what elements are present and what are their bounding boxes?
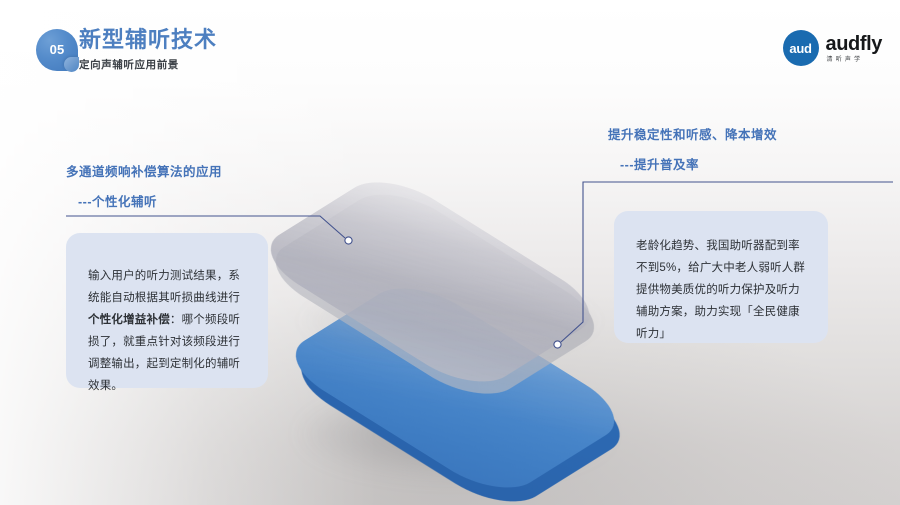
logo-circle-icon: aud <box>783 30 819 66</box>
left-callout-heading: 多通道频响补偿算法的应用 ---个性化辅听 <box>66 161 222 210</box>
page-title: 新型辅听技术 <box>79 27 217 53</box>
left-callout-textbox: 输入用户的听力测试结果，系统能自动根据其听损曲线进行个性化增益补偿：哪个频段听损… <box>66 233 268 388</box>
left-body-emphasis: 个性化增益补偿 <box>88 314 170 326</box>
right-callout-heading: 提升稳定性和听感、降本增效 ---提升普及率 <box>608 124 777 173</box>
right-callout-heading-line1: 提升稳定性和听感、降本增效 <box>608 124 777 143</box>
right-callout-textbox: 老龄化趋势、我国助听器配到率不到5%，给广大中老人弱听人群提供物美质优的听力保护… <box>614 211 828 343</box>
left-body-part1: 输入用户的听力测试结果，系统能自动根据其听损曲线进行 <box>88 270 240 304</box>
left-callout-heading-line2: ---个性化辅听 <box>78 191 222 210</box>
slide-canvas: 05 新型辅听技术 定向声辅听应用前景 aud audfly 清听声学 <box>0 0 900 505</box>
logo-wordmark: audfly 清听声学 <box>826 34 883 63</box>
section-number-badge: 05 <box>36 29 78 71</box>
badge-number-label: 05 <box>36 29 78 71</box>
logo-word-label: audfly <box>826 34 883 54</box>
slide-header: 05 新型辅听技术 定向声辅听应用前景 aud audfly 清听声学 <box>0 0 900 88</box>
title-block: 新型辅听技术 定向声辅听应用前景 <box>79 27 217 72</box>
right-callout-heading-line2: ---提升普及率 <box>620 154 777 173</box>
brand-logo: aud audfly 清听声学 <box>783 30 883 66</box>
logo-chinese-label: 清听声学 <box>827 57 883 63</box>
page-subtitle: 定向声辅听应用前景 <box>79 57 217 72</box>
left-callout-heading-line1: 多通道频响补偿算法的应用 <box>66 161 222 180</box>
